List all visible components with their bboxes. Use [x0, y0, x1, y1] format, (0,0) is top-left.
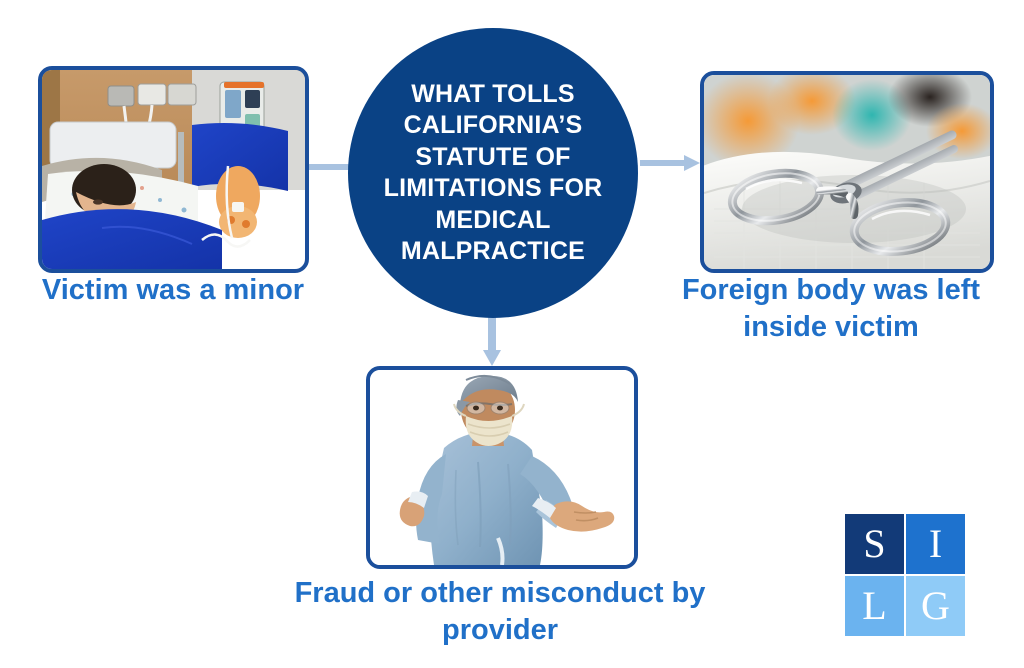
- image-surgeon-shrugging: [370, 370, 634, 565]
- logo-cell-i: I: [906, 514, 965, 574]
- image-child-in-hospital-bed: [42, 70, 305, 269]
- logo-cell-g: G: [906, 576, 965, 636]
- arrow-right-icon: [640, 153, 702, 178]
- caption-fraud: Fraud or other misconduct by provider: [236, 575, 764, 649]
- photo-card-foreign-body: [700, 71, 994, 273]
- logo-cell-l: L: [845, 576, 904, 636]
- center-hub: WHAT TOLLS CALIFORNIA’S STATUTE OF LIMIT…: [348, 28, 638, 318]
- caption-minor: Victim was a minor: [0, 272, 346, 309]
- infographic-canvas: WHAT TOLLS CALIFORNIA’S STATUTE OF LIMIT…: [0, 0, 1024, 668]
- logo-cell-s: S: [845, 514, 904, 574]
- image-surgical-forceps-on-gauze: [704, 75, 990, 269]
- caption-foreign-body: Foreign body was left inside victim: [638, 272, 1024, 346]
- photo-card-fraud: [366, 366, 638, 569]
- silg-logo: S I L G: [845, 514, 965, 636]
- photo-card-minor: [38, 66, 309, 273]
- hub-title: WHAT TOLLS CALIFORNIA’S STATUTE OF LIMIT…: [379, 79, 607, 268]
